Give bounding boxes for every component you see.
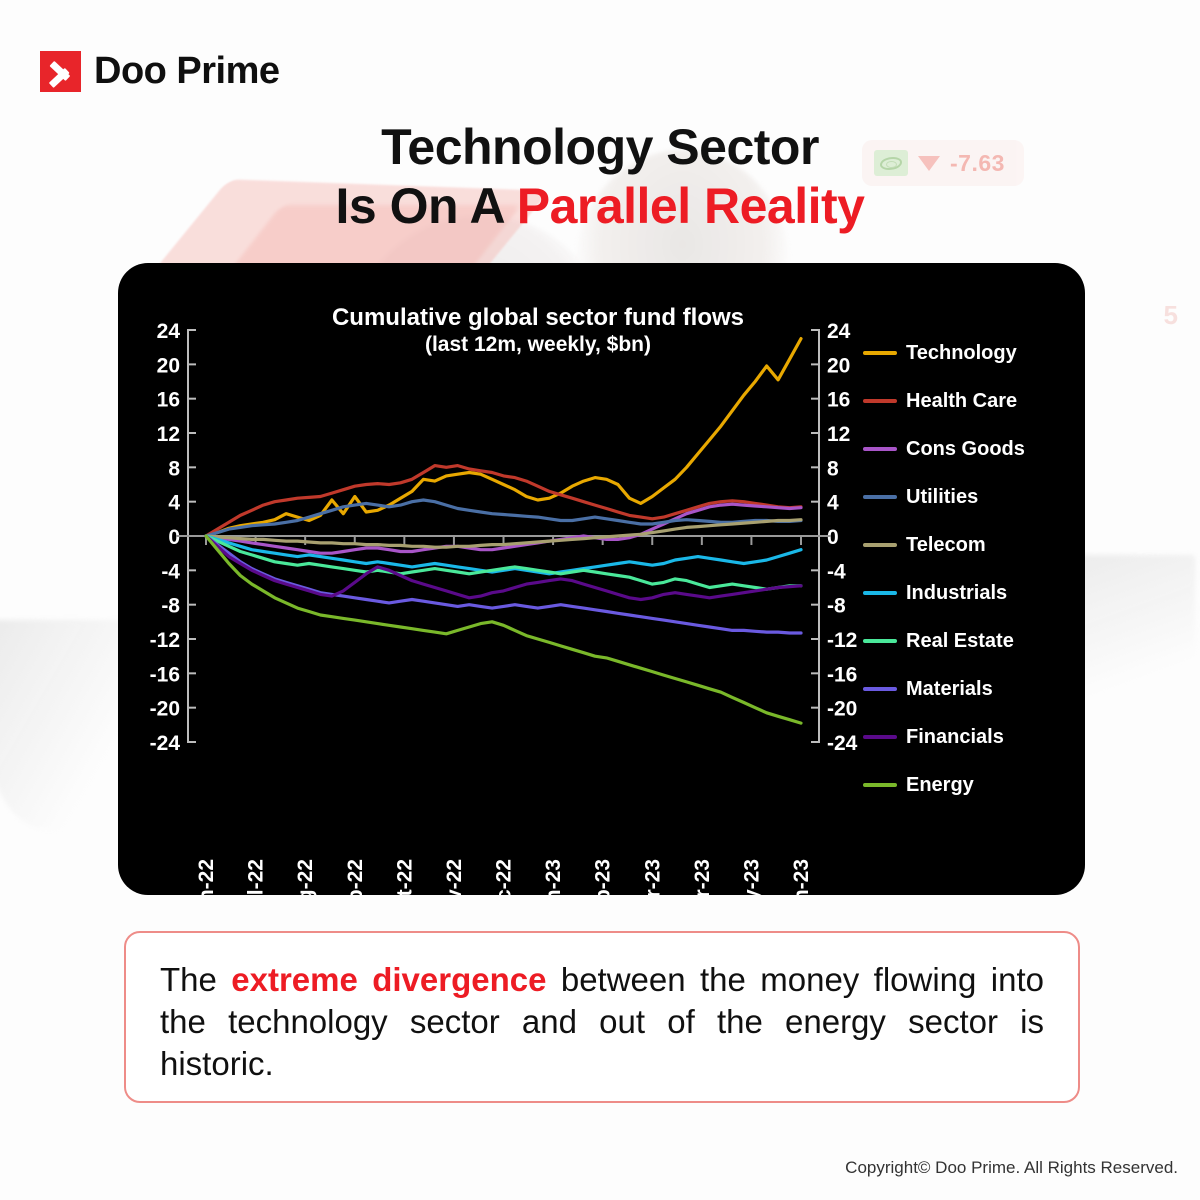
caption-box: The extreme divergence between the money… xyxy=(124,931,1080,1103)
legend-swatch-icon xyxy=(863,399,897,403)
svg-text:12: 12 xyxy=(157,423,180,446)
doo-prime-logo-icon xyxy=(40,51,81,92)
legend-swatch-icon xyxy=(863,351,897,355)
legend-swatch-icon xyxy=(863,591,897,595)
svg-text:24: 24 xyxy=(157,320,181,343)
legend-label: Technology xyxy=(906,342,1017,365)
legend-item-financials[interactable]: Financials xyxy=(863,713,1073,761)
legend-item-utilities[interactable]: Utilities xyxy=(863,473,1073,521)
caption-text: The extreme divergence between the money… xyxy=(160,959,1044,1085)
legend-label: Cons Goods xyxy=(906,438,1025,461)
legend-item-technology[interactable]: Technology xyxy=(863,329,1073,377)
svg-text:-12: -12 xyxy=(827,629,857,652)
svg-text:0: 0 xyxy=(827,526,839,549)
legend-label: Materials xyxy=(906,678,993,701)
watermark-number: 5 xyxy=(1164,300,1178,331)
legend-label: Telecom xyxy=(906,534,986,557)
svg-text:Aug-22: Aug-22 xyxy=(294,859,317,895)
svg-text:16: 16 xyxy=(827,389,850,412)
svg-text:4: 4 xyxy=(168,492,180,515)
chart-legend: TechnologyHealth CareCons GoodsUtilities… xyxy=(863,329,1073,809)
svg-text:-24: -24 xyxy=(827,732,858,755)
svg-text:Sep-22: Sep-22 xyxy=(344,859,367,895)
svg-text:Jun-23: Jun-23 xyxy=(790,859,813,895)
legend-label: Utilities xyxy=(906,486,978,509)
legend-swatch-icon xyxy=(863,735,897,739)
infographic-page: 5 -7.63 Doo Prime Technology Sector Is O… xyxy=(0,0,1200,1200)
svg-text:-8: -8 xyxy=(161,595,180,618)
brand-logo: Doo Prime xyxy=(40,50,280,93)
legend-swatch-icon xyxy=(863,783,897,787)
legend-label: Industrials xyxy=(906,582,1007,605)
svg-text:Nov-22: Nov-22 xyxy=(443,859,466,895)
legend-item-energy[interactable]: Energy xyxy=(863,761,1073,809)
svg-text:-20: -20 xyxy=(150,698,180,721)
legend-item-cons-goods[interactable]: Cons Goods xyxy=(863,425,1073,473)
svg-text:-20: -20 xyxy=(827,698,857,721)
svg-text:-24: -24 xyxy=(150,732,181,755)
svg-text:-16: -16 xyxy=(827,663,857,686)
svg-text:0: 0 xyxy=(168,526,180,549)
brand-name: Doo Prime xyxy=(94,50,280,93)
copyright-notice: Copyright© Doo Prime. All Rights Reserve… xyxy=(845,1158,1178,1178)
svg-text:-4: -4 xyxy=(827,560,846,583)
svg-text:Jun-22: Jun-22 xyxy=(195,859,218,895)
svg-text:Apr-23: Apr-23 xyxy=(691,859,714,895)
legend-swatch-icon xyxy=(863,687,897,691)
svg-text:24: 24 xyxy=(827,320,851,343)
svg-text:20: 20 xyxy=(157,354,180,377)
legend-swatch-icon xyxy=(863,495,897,499)
svg-text:May-23: May-23 xyxy=(740,859,763,895)
svg-text:8: 8 xyxy=(827,457,839,480)
svg-text:4: 4 xyxy=(827,492,839,515)
svg-text:Jan-23: Jan-23 xyxy=(542,859,565,895)
svg-text:-4: -4 xyxy=(161,560,180,583)
svg-text:20: 20 xyxy=(827,354,850,377)
svg-text:Feb-23: Feb-23 xyxy=(592,859,615,895)
caption-highlight: extreme divergence xyxy=(231,961,546,998)
legend-swatch-icon xyxy=(863,447,897,451)
legend-item-telecom[interactable]: Telecom xyxy=(863,521,1073,569)
page-title: Technology Sector Is On A Parallel Reali… xyxy=(0,118,1200,236)
chart-panel: Cumulative global sector fund flows (las… xyxy=(118,263,1085,895)
svg-text:-8: -8 xyxy=(827,595,846,618)
headline-line-2-highlight: Parallel Reality xyxy=(517,178,865,234)
legend-item-real-estate[interactable]: Real Estate xyxy=(863,617,1073,665)
legend-swatch-icon xyxy=(863,639,897,643)
headline-line-2: Is On A Parallel Reality xyxy=(0,177,1200,236)
svg-text:Dec-22: Dec-22 xyxy=(493,859,516,895)
legend-item-industrials[interactable]: Industrials xyxy=(863,569,1073,617)
svg-text:Jul-22: Jul-22 xyxy=(245,859,268,895)
svg-text:16: 16 xyxy=(157,389,180,412)
legend-label: Financials xyxy=(906,726,1004,749)
svg-text:Mar-23: Mar-23 xyxy=(641,859,664,895)
headline-line-1: Technology Sector xyxy=(0,118,1200,177)
svg-text:12: 12 xyxy=(827,423,850,446)
legend-item-materials[interactable]: Materials xyxy=(863,665,1073,713)
caption-prefix: The xyxy=(160,961,231,998)
legend-label: Real Estate xyxy=(906,630,1014,653)
legend-label: Health Care xyxy=(906,390,1017,413)
svg-text:-16: -16 xyxy=(150,663,180,686)
svg-text:-12: -12 xyxy=(150,629,180,652)
legend-item-health-care[interactable]: Health Care xyxy=(863,377,1073,425)
svg-text:8: 8 xyxy=(168,457,180,480)
legend-swatch-icon xyxy=(863,543,897,547)
headline-line-2-prefix: Is On A xyxy=(336,178,517,234)
legend-label: Energy xyxy=(906,774,974,797)
svg-text:Oct-22: Oct-22 xyxy=(393,859,416,895)
